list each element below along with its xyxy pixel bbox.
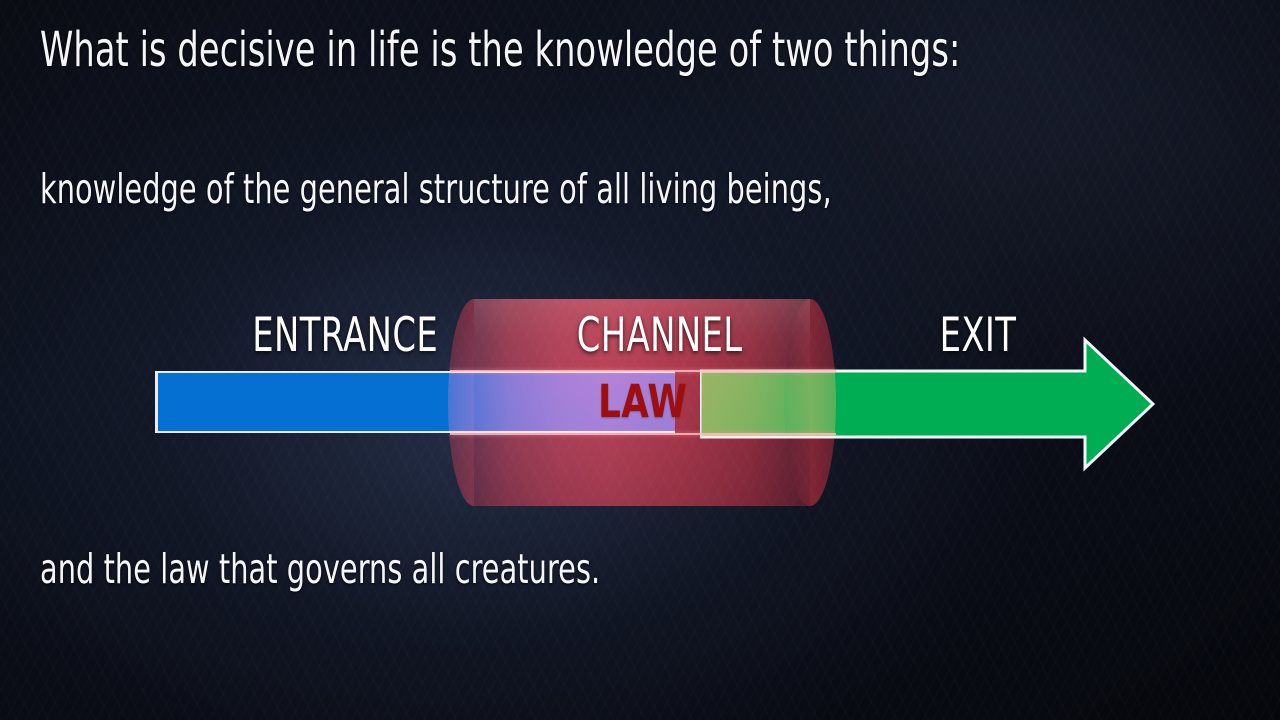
law-label: LAW: [598, 379, 687, 424]
channel-label: CHANNEL: [577, 312, 743, 359]
entrance-label: ENTRANCE: [252, 312, 438, 359]
entrance-bar-end-cap: [155, 371, 158, 433]
channel-bottom-edge-line: [450, 433, 836, 435]
exit-label: EXIT: [940, 312, 1017, 359]
slide-canvas: What is decisive in life is the knowledg…: [0, 0, 1280, 720]
channel-top-edge-line: [450, 370, 836, 372]
flow-diagram: ENTRANCE CHANNEL EXIT LAW: [0, 0, 1280, 720]
